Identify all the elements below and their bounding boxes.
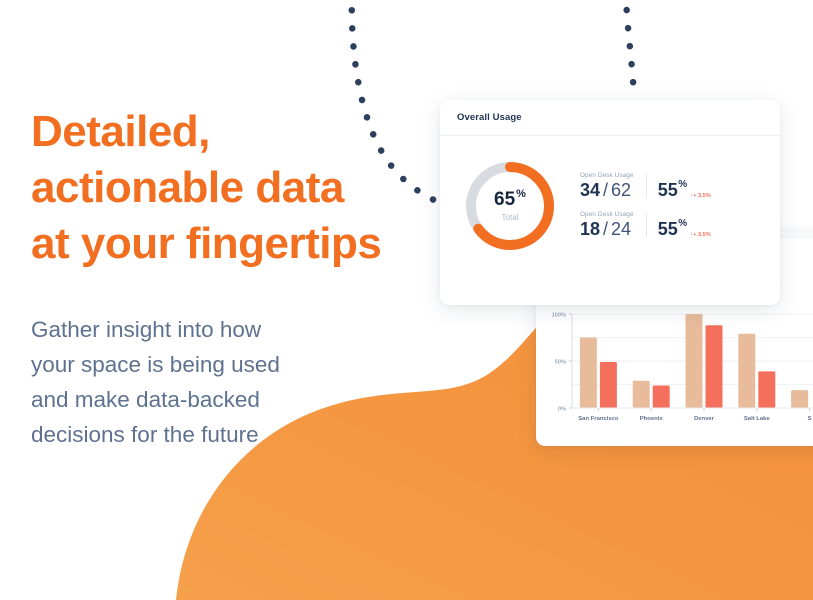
marketing-hero-screenshot: Detailed, actionable data at your finger…	[0, 0, 813, 600]
stat-delta: ↑+ 3.5%	[690, 232, 711, 238]
subcopy-line-3: and make data-backed	[31, 382, 431, 417]
svg-text:50%: 50%	[555, 359, 566, 365]
donut-percent-sign: %	[516, 189, 526, 200]
stat-percent-block: 55% ↑+ 3.5%	[647, 181, 711, 199]
card-header: Overall Usage	[440, 100, 780, 136]
stat-percent-sign: %	[678, 219, 687, 229]
headline-line-3: at your fingertips	[31, 216, 431, 272]
stat-percent-block: 55% ↑+ 3.5%	[647, 220, 711, 238]
headline-line-2: actionable data	[31, 160, 431, 216]
stat-delta-value: + 3.5%	[693, 193, 711, 199]
stat-fraction: 18/24	[580, 220, 634, 238]
svg-text:S: S	[808, 416, 812, 422]
svg-text:100%: 100%	[552, 312, 566, 318]
svg-text:0%: 0%	[558, 406, 566, 412]
headline-line-1: Detailed,	[31, 104, 431, 160]
hero-copy: Detailed, actionable data at your finger…	[31, 104, 431, 452]
stat-total: 24	[611, 219, 631, 239]
svg-text:Denver: Denver	[694, 416, 715, 422]
donut-value: 65%	[494, 190, 526, 209]
stat-delta: ↑+ 3.5%	[690, 193, 711, 199]
svg-text:San Francisco: San Francisco	[578, 416, 619, 422]
donut-center-label: 65% Total	[462, 158, 558, 254]
stat-percent: 55%	[658, 220, 687, 238]
stat-separator: /	[603, 180, 608, 200]
card-body: 65% Total Open Desk Usage 34/62	[440, 136, 780, 254]
svg-text:Salt Lake: Salt Lake	[744, 416, 771, 422]
subcopy-line-2: your space is being used	[31, 347, 431, 382]
donut-value-number: 65	[494, 190, 515, 209]
subcopy-line-4: decisions for the future	[31, 417, 431, 452]
stat-row: Open Desk Usage 18/24 55% ↑+ 3.5%	[580, 211, 711, 238]
stat-percent: 55%	[658, 181, 687, 199]
stat-total: 62	[611, 180, 631, 200]
stat-caption: Open Desk Usage	[580, 172, 634, 179]
stat-percent-sign: %	[678, 180, 687, 190]
svg-text:Phoenix: Phoenix	[640, 416, 664, 422]
stat-separator: /	[603, 219, 608, 239]
overall-usage-card: Overall Usage 65% Total	[440, 100, 780, 305]
donut-label: Total	[502, 213, 519, 222]
donut-chart: 65% Total	[462, 158, 558, 254]
stat-fraction-block: Open Desk Usage 18/24	[580, 211, 646, 238]
hero-subcopy: Gather insight into how your space is be…	[31, 312, 431, 452]
page-title: Detailed, actionable data at your finger…	[31, 104, 431, 272]
stat-row: Open Desk Usage 34/62 55% ↑+ 3.5%	[580, 172, 711, 199]
stat-delta-value: + 3.5%	[693, 232, 711, 238]
stat-fraction: 34/62	[580, 181, 634, 199]
stat-percent-number: 55	[658, 181, 678, 199]
stat-used: 34	[580, 180, 600, 200]
stat-fraction-block: Open Desk Usage 34/62	[580, 172, 646, 199]
stat-percent-number: 55	[658, 220, 678, 238]
stat-caption: Open Desk Usage	[580, 211, 634, 218]
stat-used: 18	[580, 219, 600, 239]
subcopy-line-1: Gather insight into how	[31, 312, 431, 347]
usage-stats-list: Open Desk Usage 34/62 55% ↑+ 3.5%	[580, 172, 711, 238]
card-title: Overall Usage	[457, 112, 522, 123]
